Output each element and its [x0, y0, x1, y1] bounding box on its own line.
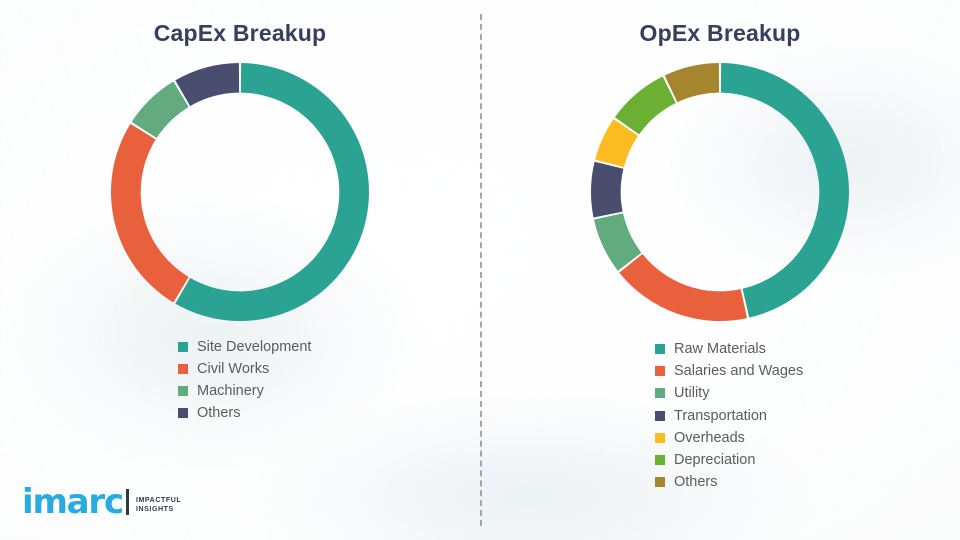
- capex-donut-svg: [109, 61, 371, 323]
- opex-donut-chart: [480, 61, 960, 323]
- legend-swatch-raw-materials: [655, 344, 665, 354]
- slide-stage: CapEx Breakup Site Development Civil Wor…: [0, 0, 960, 540]
- opex-panel: OpEx Breakup Raw Materials Salaries and …: [480, 0, 960, 540]
- legend-label: Depreciation: [674, 452, 755, 468]
- legend-label: Site Development: [197, 339, 311, 355]
- donut-slice[interactable]: [721, 63, 849, 318]
- logo-divider: [126, 489, 129, 515]
- legend-item[interactable]: Raw Materials: [655, 338, 960, 360]
- legend-item[interactable]: Utility: [655, 382, 960, 404]
- legend-swatch-civil-works: [178, 364, 188, 374]
- legend-swatch-machinery: [178, 386, 188, 396]
- donut-slice[interactable]: [111, 124, 189, 303]
- legend-swatch-overheads: [655, 433, 665, 443]
- donut-slice[interactable]: [175, 63, 239, 106]
- opex-donut-svg: [589, 61, 851, 323]
- legend-swatch-salaries-and-wages: [655, 366, 665, 376]
- legend-label: Others: [674, 474, 718, 490]
- logo-tagline: IMPACTFUL INSIGHTS: [136, 496, 181, 517]
- capex-chart-title: CapEx Breakup: [0, 20, 480, 47]
- legend-item[interactable]: Transportation: [655, 405, 960, 427]
- opex-legend: Raw Materials Salaries and Wages Utility…: [480, 338, 960, 493]
- capex-legend: Site Development Civil Works Machinery O…: [0, 336, 480, 424]
- legend-item[interactable]: Overheads: [655, 427, 960, 449]
- legend-swatch-depreciation: [655, 455, 665, 465]
- legend-label: Civil Works: [197, 361, 269, 377]
- donut-slice[interactable]: [665, 63, 720, 102]
- legend-label: Raw Materials: [674, 341, 766, 357]
- legend-swatch-site-development: [178, 342, 188, 352]
- legend-label: Machinery: [197, 383, 264, 399]
- legend-item[interactable]: Site Development: [178, 336, 480, 358]
- logo-tagline-line1: IMPACTFUL: [136, 496, 181, 505]
- legend-swatch-others: [655, 477, 665, 487]
- donut-slice[interactable]: [175, 63, 369, 321]
- legend-label: Overheads: [674, 430, 745, 446]
- legend-item[interactable]: Others: [178, 402, 480, 424]
- legend-item[interactable]: Machinery: [178, 380, 480, 402]
- opex-chart-title: OpEx Breakup: [480, 20, 960, 47]
- donut-slice[interactable]: [591, 162, 623, 218]
- logo-wordmark: imarc: [22, 487, 123, 517]
- legend-item[interactable]: Civil Works: [178, 358, 480, 380]
- legend-swatch-utility: [655, 388, 665, 398]
- legend-label: Salaries and Wages: [674, 363, 803, 379]
- legend-label: Others: [197, 405, 241, 421]
- donut-slice[interactable]: [615, 76, 676, 134]
- legend-label: Utility: [674, 385, 709, 401]
- legend-item[interactable]: Others: [655, 471, 960, 493]
- legend-label: Transportation: [674, 408, 767, 424]
- imarc-logo: imarc IMPACTFUL INSIGHTS: [22, 487, 181, 517]
- legend-swatch-others: [178, 408, 188, 418]
- legend-item[interactable]: Depreciation: [655, 449, 960, 471]
- logo-tagline-line2: INSIGHTS: [136, 505, 181, 514]
- capex-donut-chart: [0, 61, 480, 323]
- donut-slice[interactable]: [619, 254, 747, 321]
- legend-item[interactable]: Salaries and Wages: [655, 360, 960, 382]
- capex-panel: CapEx Breakup Site Development Civil Wor…: [0, 0, 480, 540]
- legend-swatch-transportation: [655, 411, 665, 421]
- donut-slice[interactable]: [132, 82, 189, 139]
